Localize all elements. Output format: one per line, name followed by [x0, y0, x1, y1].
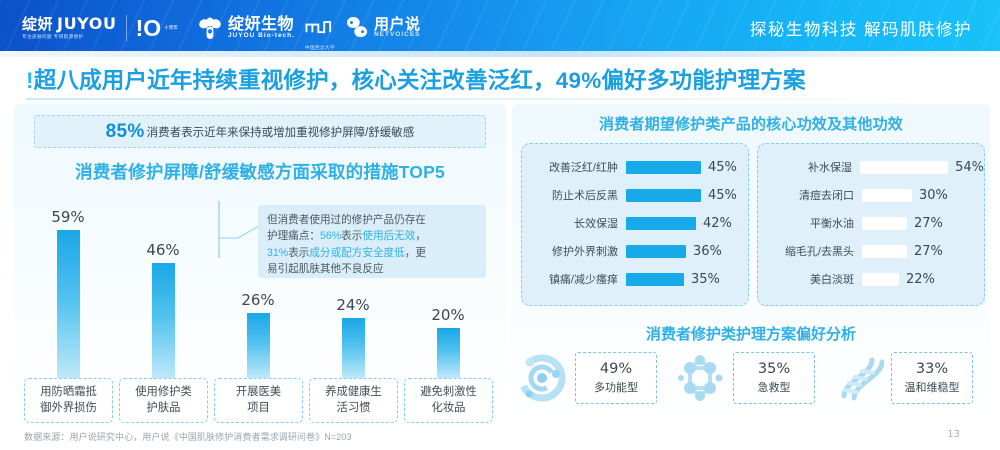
- title-exclamation: !: [26, 68, 34, 93]
- preference-label: 温和维稳型: [905, 379, 960, 395]
- efficacy-label: 改善泛红/红肿: [522, 159, 626, 175]
- title-divider: [26, 98, 958, 100]
- efficacy-percent: 36%: [693, 244, 722, 259]
- preference-box: 33%温和维稳型: [891, 352, 973, 404]
- juyou-logo: 绽妍 JUYOU 专注皮肤问题 专研肌源修护: [22, 16, 117, 40]
- efficacy-label: 美白淡斑: [758, 271, 862, 287]
- preference-box: 49%多功能型: [575, 352, 657, 404]
- tenth-anniversary-sub: 十周年: [164, 25, 178, 31]
- efficacy-label: 缩毛孔/去黑头: [758, 243, 862, 259]
- juyou-logo-sub: 专注皮肤问题 专研肌源修护: [22, 34, 84, 40]
- preference-percent: 35%: [758, 361, 790, 377]
- preference-item: 35%急救型: [674, 352, 815, 404]
- bar-column: 59%: [22, 208, 114, 378]
- header-slogan: 探秘生物科技 解码肌肤修护: [750, 16, 972, 40]
- bar-rect: [247, 313, 270, 378]
- bar-value-label: 24%: [307, 296, 399, 314]
- efficacy-row: 清痘去闭口30%: [758, 185, 984, 205]
- efficacy-row: 修护外界刺激36%: [522, 241, 748, 261]
- efficacy-percent: 35%: [691, 272, 720, 287]
- efficacy-row: 长效保湿42%: [522, 213, 748, 233]
- netvoices-logo-latin: NETVOICES: [374, 32, 421, 39]
- bar-rect: [152, 263, 175, 378]
- bar-category-box: 使用修护类护肤品: [119, 378, 208, 423]
- efficacy-percent: 45%: [708, 160, 737, 175]
- efficacy-label: 长效保湿: [522, 215, 626, 231]
- vertical-bar-chart: 59%46%26%24%20%: [22, 178, 500, 378]
- biotech-logo-cn: 绽妍生物: [228, 17, 294, 33]
- dna-icon: [832, 352, 884, 404]
- efficacy-bar: [862, 217, 907, 230]
- stat-banner: 85% 消费者表示近年来保持或增加重视修护屏障/舒缓敏感: [34, 115, 486, 148]
- bar-category-box: 避免刺激性化妆品: [404, 378, 493, 423]
- efficacy-row: 缩毛孔/去黑头27%: [758, 241, 984, 261]
- logo-strip: 绽妍 JUYOU 专注皮肤问题 专研肌源修护 !O 十周年: [22, 8, 421, 48]
- bar-value-label: 26%: [212, 291, 304, 309]
- right-section-title: 消费者期望修护类产品的核心功效及其他功效: [512, 113, 990, 134]
- efficacy-label: 清痘去闭口: [758, 187, 862, 203]
- data-source-note: 数据来源：用户说研究中心，用户说《中国肌肤修护消费者需求调研问卷》N=203: [24, 430, 352, 443]
- tenth-anniversary-logo: !O 十周年: [136, 17, 178, 40]
- preference-item: 33%温和维稳型: [832, 352, 973, 404]
- speech-bubbles-icon: [345, 17, 369, 39]
- efficacy-label: 修护外界刺激: [522, 243, 626, 259]
- title-text: 超八成用户近年持续重视修护，核心关注改善泛红，49%偏好多功能护理方案: [34, 68, 806, 93]
- efficacy-bar: [626, 245, 686, 258]
- slide: 绽妍 JUYOU 专注皮肤问题 专研肌源修护 !O 十周年: [0, 0, 1000, 450]
- efficacy-row: 改善泛红/红肿45%: [522, 157, 748, 177]
- tenth-anniversary-mark: !O: [136, 17, 162, 40]
- bar-rect: [342, 318, 365, 378]
- preference-percent: 49%: [600, 361, 632, 377]
- other-efficacy-chart: 补水保湿54%清痘去闭口30%平衡水油27%缩毛孔/去黑头27%美白淡斑22%: [757, 143, 985, 306]
- preference-section-title: 消费者修护类护理方案偏好分析: [512, 323, 990, 344]
- efficacy-row: 补水保湿54%: [758, 157, 984, 177]
- bar-category-box: 用防晒霜抵御外界损伤: [24, 378, 113, 423]
- header-bar: 绽妍 JUYOU 专注皮肤问题 专研肌源修护 !O 十周年: [0, 0, 1000, 57]
- bar-column: 24%: [307, 296, 399, 378]
- bar-category-box: 开展医美项目: [214, 378, 303, 423]
- bar-column: 46%: [117, 241, 209, 378]
- page-title: !超八成用户近年持续重视修护，核心关注改善泛红，49%偏好多功能护理方案: [26, 63, 976, 95]
- juyou-biotech-logo: 绽妍生物 JUYOU Bio-tech.: [197, 17, 295, 40]
- bar-column: 20%: [402, 306, 494, 378]
- efficacy-row: 防止术后反黑45%: [522, 185, 748, 205]
- netvoices-logo-cn: 用户说: [374, 17, 421, 32]
- efficacy-row: 镇痛/减少瘙痒35%: [522, 269, 748, 289]
- efficacy-percent: 45%: [708, 188, 737, 203]
- partner-logo: 中国西北大学: [303, 17, 337, 39]
- bar-value-label: 59%: [22, 208, 114, 226]
- molecule-icon: [674, 352, 726, 404]
- efficacy-bar: [862, 189, 912, 202]
- juyou-logo-latin: JUYOU: [57, 16, 117, 32]
- netvoices-logo: 用户说 NETVOICES: [345, 17, 421, 39]
- bar-category-labels: 用防晒霜抵御外界损伤使用修护类护肤品开展医美项目养成健康生活习惯避免刺激性化妆品: [22, 378, 500, 426]
- bar-value-label: 20%: [402, 306, 494, 324]
- efficacy-bar: [862, 273, 899, 286]
- efficacy-bar: [626, 217, 696, 230]
- bar-value-label: 46%: [117, 241, 209, 259]
- efficacy-percent: 27%: [914, 216, 943, 231]
- preference-label: 多功能型: [594, 379, 638, 395]
- biotech-logo-latin: JUYOU Bio-tech.: [228, 33, 295, 40]
- preference-row: 49%多功能型35%急救型33%温和维稳型: [516, 352, 990, 422]
- core-efficacy-chart: 改善泛红/红肿45%防止术后反黑45%长效保湿42%修护外界刺激36%镇痛/减少…: [521, 143, 749, 306]
- efficacy-bar: [626, 189, 701, 202]
- efficacy-row: 平衡水油27%: [758, 213, 984, 233]
- logo-divider: [126, 15, 127, 41]
- flower-icon: [197, 17, 223, 39]
- preference-label: 急救型: [758, 379, 791, 395]
- preference-item: 49%多功能型: [516, 352, 657, 404]
- efficacy-bar: [860, 161, 948, 174]
- efficacy-label: 防止术后反黑: [522, 187, 626, 203]
- bar-rect: [437, 328, 460, 378]
- circles-orbit-icon: [516, 352, 568, 404]
- efficacy-bar: [626, 273, 684, 286]
- bar-rect: [57, 230, 80, 378]
- juyou-logo-cn: 绽妍: [22, 17, 53, 32]
- bar-category-box: 养成健康生活习惯: [309, 378, 398, 423]
- preference-percent: 33%: [916, 361, 948, 377]
- efficacy-percent: 54%: [955, 160, 984, 175]
- efficacy-percent: 30%: [919, 188, 948, 203]
- efficacy-row: 美白淡斑22%: [758, 269, 984, 289]
- stat-banner-value: 85%: [106, 121, 145, 143]
- efficacy-label: 补水保湿: [758, 159, 860, 175]
- efficacy-percent: 27%: [914, 244, 943, 259]
- efficacy-percent: 42%: [703, 216, 732, 231]
- bar-column: 26%: [212, 291, 304, 378]
- page-number: 13: [947, 429, 960, 440]
- stat-banner-text: 消费者表示近年来保持或增加重视修护屏障/舒缓敏感: [147, 124, 415, 140]
- efficacy-label: 平衡水油: [758, 215, 862, 231]
- preference-box: 35%急救型: [733, 352, 815, 404]
- header-underline: [0, 51, 1000, 57]
- efficacy-bar: [862, 245, 907, 258]
- efficacy-percent: 22%: [906, 272, 935, 287]
- efficacy-label: 镇痛/减少瘙痒: [522, 271, 626, 287]
- efficacy-bar: [626, 161, 701, 174]
